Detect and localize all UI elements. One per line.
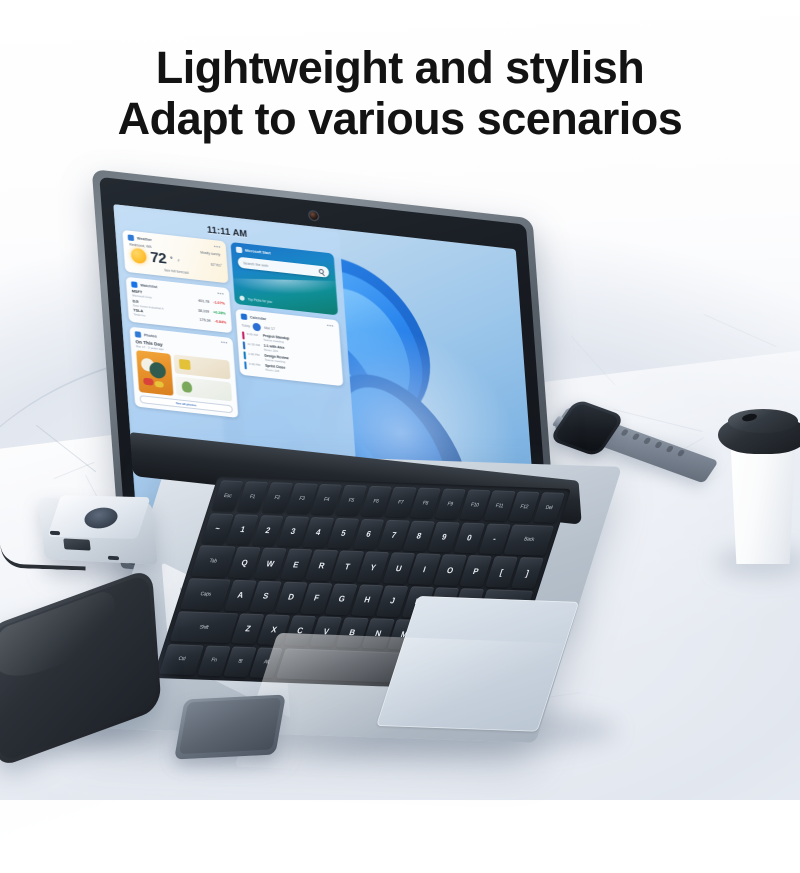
photos-icon	[135, 331, 142, 338]
webcam-icon	[309, 211, 318, 220]
search-title: Microsoft Start	[245, 249, 271, 256]
key-backspace[interactable]: Back	[503, 524, 554, 556]
key-caps-lock[interactable]: Caps	[180, 578, 231, 610]
ticker-price: 401.78	[198, 299, 209, 304]
calendar-title: Calendar	[250, 315, 267, 321]
portable-ssd-face	[179, 698, 282, 754]
hub-port[interactable]	[108, 556, 120, 561]
event-time: 1:00 PM	[248, 352, 262, 361]
usb-cable-plug	[63, 538, 90, 550]
watchlist-widget[interactable]: Watchlist ••• MSFT Microsoft Corp 401.78	[126, 277, 232, 333]
event-time: 11:30 AM	[247, 342, 261, 351]
watchlist-more-icon[interactable]: •••	[217, 292, 224, 296]
headline-line-2: Adapt to various scenarios	[0, 93, 800, 144]
search-footer[interactable]: Top Picks for you	[239, 295, 272, 304]
headline-line-1: Lightweight and stylish	[156, 42, 645, 93]
widgets-column-right: Microsoft Start Search the web Top Picks	[230, 242, 346, 430]
sun-icon	[131, 248, 147, 265]
ticker-change: -1.07%	[213, 300, 225, 305]
event-time: 9:00 AM	[247, 332, 261, 341]
widgets-column-left: Weather ••• Redmond, WA Mostly sunny 72	[122, 230, 238, 418]
ticker-change: +0.28%	[213, 310, 226, 315]
page-title: Lightweight and stylish Adapt to various…	[0, 42, 800, 145]
ticker-price: 175.34	[199, 318, 210, 323]
event-time: 3:30 PM	[249, 362, 263, 371]
weather-high-low: 82°/61°	[211, 262, 223, 267]
microsoft-start-icon	[236, 247, 243, 254]
widgets-grid: Weather ••• Redmond, WA Mostly sunny 72	[122, 230, 346, 430]
weather-title: Weather	[137, 236, 152, 242]
weather-icon	[128, 234, 135, 241]
watchlist-icon	[131, 281, 138, 288]
search-footer-label: Top Picks for you	[247, 297, 272, 304]
avatar[interactable]	[253, 323, 262, 332]
weather-degree: °	[170, 256, 173, 262]
photos-grid	[136, 350, 232, 402]
search-wave-graphic	[230, 278, 338, 295]
photo-thumbnail[interactable]	[175, 376, 232, 401]
calendar-icon	[241, 313, 248, 320]
calendar-subtitle: Today	[241, 323, 250, 328]
photos-title: Photos	[144, 333, 157, 338]
photo-thumbnail[interactable]	[173, 354, 230, 379]
calendar-more-icon[interactable]: •••	[327, 325, 334, 329]
key-shift-left[interactable]: Shift	[169, 611, 238, 643]
photos-widget[interactable]: Photos ••• On This Day Mar 17 · 3 years …	[129, 326, 238, 417]
weather-temperature: 72	[150, 250, 167, 267]
search-widget[interactable]: Microsoft Start Search the web Top Picks	[230, 242, 338, 315]
portable-ssd	[174, 694, 286, 759]
weather-unit: F	[178, 258, 180, 262]
photo-thumbnail[interactable]	[136, 350, 173, 396]
calendar-day: Mar 17	[264, 326, 275, 331]
search-icon[interactable]	[318, 269, 323, 275]
photos-more-icon[interactable]: •••	[221, 342, 228, 346]
hub-port[interactable]	[50, 531, 61, 536]
ticker-price: 38,109	[198, 308, 209, 313]
watchlist-title: Watchlist	[140, 283, 157, 289]
top-picks-icon	[239, 295, 244, 301]
calendar-widget[interactable]: Calendar ••• Today Mar 17	[235, 309, 343, 386]
weather-more-icon[interactable]: •••	[214, 246, 221, 250]
ticker-change: -0.84%	[215, 319, 227, 324]
search-placeholder: Search the web	[243, 261, 269, 268]
weather-widget[interactable]: Weather ••• Redmond, WA Mostly sunny 72	[122, 230, 228, 283]
